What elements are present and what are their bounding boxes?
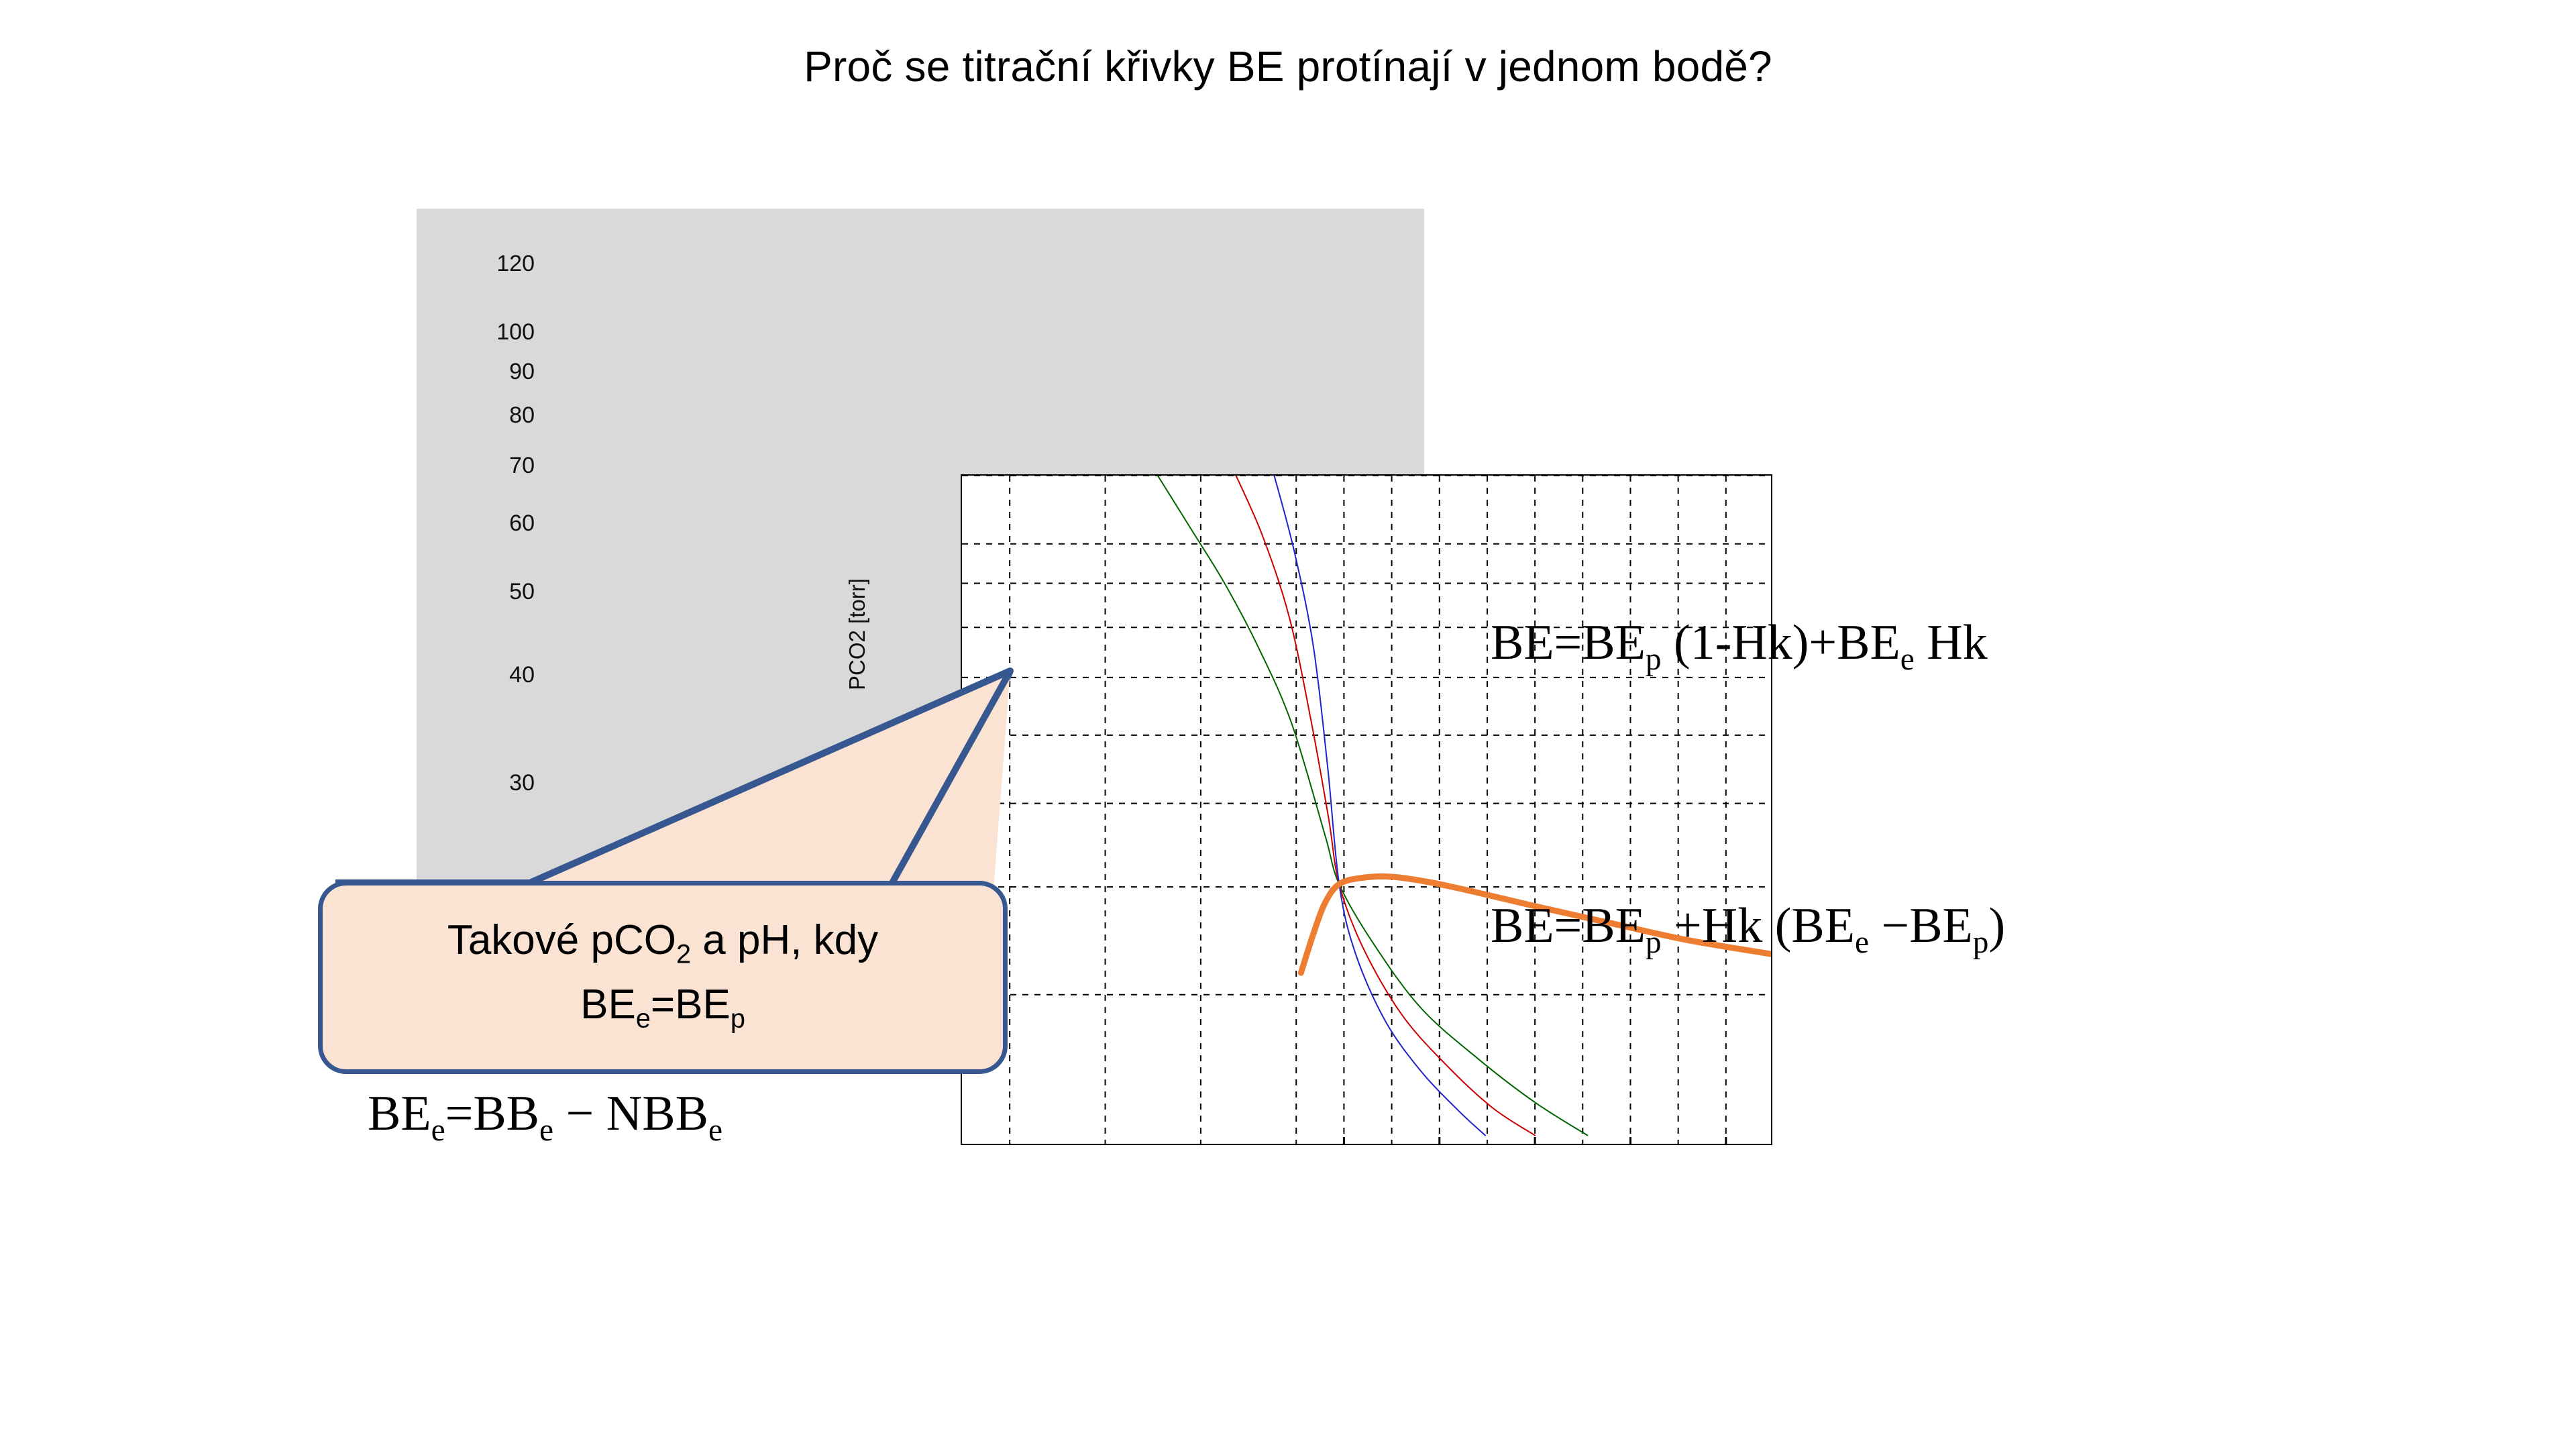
- callout-line2-mid: =BE: [651, 981, 731, 1028]
- callout-line-1: Takové pCO2 a pH, kdy: [323, 915, 1003, 971]
- eq2-part2: +Hk (BE: [1662, 898, 1855, 953]
- y-tick-label: 30: [417, 770, 535, 796]
- eq1-part3: Hk: [1915, 615, 1988, 670]
- eq2-part3: −BE: [1869, 898, 1973, 953]
- eq3-part1: BE: [368, 1086, 431, 1141]
- titration-curve-blue: [1274, 476, 1485, 1136]
- plot-area: [961, 474, 1772, 1145]
- y-tick-label: 70: [417, 453, 535, 479]
- vertical-gridlines: [1010, 476, 1726, 1145]
- callout-line2-subscript-p: p: [731, 1004, 745, 1033]
- callout-line-2: BEe=BEp: [323, 979, 1003, 1035]
- eq2-part4: ): [1988, 898, 2005, 953]
- eq1-part1: BE=BE: [1491, 615, 1646, 670]
- eq3-sub1: e: [431, 1113, 445, 1148]
- equation-be-e-definition: BEe=BBe − NBBe: [368, 1085, 722, 1148]
- titration-curve-green: [1158, 476, 1588, 1136]
- callout-box: Takové pCO2 a pH, kdy BEe=BEp: [318, 881, 1008, 1074]
- eq1-sub1: p: [1646, 642, 1662, 677]
- eq2-sub2: e: [1855, 925, 1869, 960]
- page-title: Proč se titrační křivky BE protínají v j…: [0, 42, 2576, 91]
- eq2-sub3: p: [1973, 925, 1989, 960]
- eq1-part2: (1-Hk)+BE: [1662, 615, 1900, 670]
- callout-line2-pre: BE: [580, 981, 636, 1028]
- eq3-sub3: e: [708, 1113, 722, 1148]
- y-tick-label: 120: [417, 251, 535, 277]
- data-series-group: [1158, 476, 1772, 1136]
- titration-curves-plot: [962, 476, 1772, 1145]
- y-tick-label: 80: [417, 402, 535, 429]
- eq2-part1: BE=BE: [1491, 898, 1646, 953]
- y-tick-label: 60: [417, 511, 535, 537]
- titration-curve-red: [1236, 476, 1536, 1136]
- eq2-sub1: p: [1646, 925, 1662, 960]
- callout-line1-subscript: 2: [676, 939, 691, 969]
- y-axis-title: PCO2 [torr]: [845, 578, 870, 690]
- callout-line1-post: a pH, kdy: [691, 917, 878, 963]
- y-tick-label: 40: [417, 662, 535, 688]
- y-tick-label: 100: [417, 319, 535, 345]
- equation-be-weighted: BE=BEp (1-Hk)+BEe Hk: [1491, 614, 1988, 678]
- eq3-part3: − NBB: [553, 1086, 708, 1141]
- callout-line1-pre: Takové pCO: [447, 917, 676, 963]
- eq3-part2: =BB: [445, 1086, 539, 1141]
- callout-line2-subscript-e: e: [636, 1004, 651, 1033]
- axis-tick-marks: [1344, 1137, 1725, 1145]
- y-tick-label: 50: [417, 579, 535, 605]
- eq1-sub2: e: [1900, 642, 1915, 677]
- equation-be-difference: BE=BEp +Hk (BEe −BEp): [1491, 898, 2005, 961]
- y-tick-label: 90: [417, 359, 535, 385]
- eq3-sub2: e: [539, 1113, 553, 1148]
